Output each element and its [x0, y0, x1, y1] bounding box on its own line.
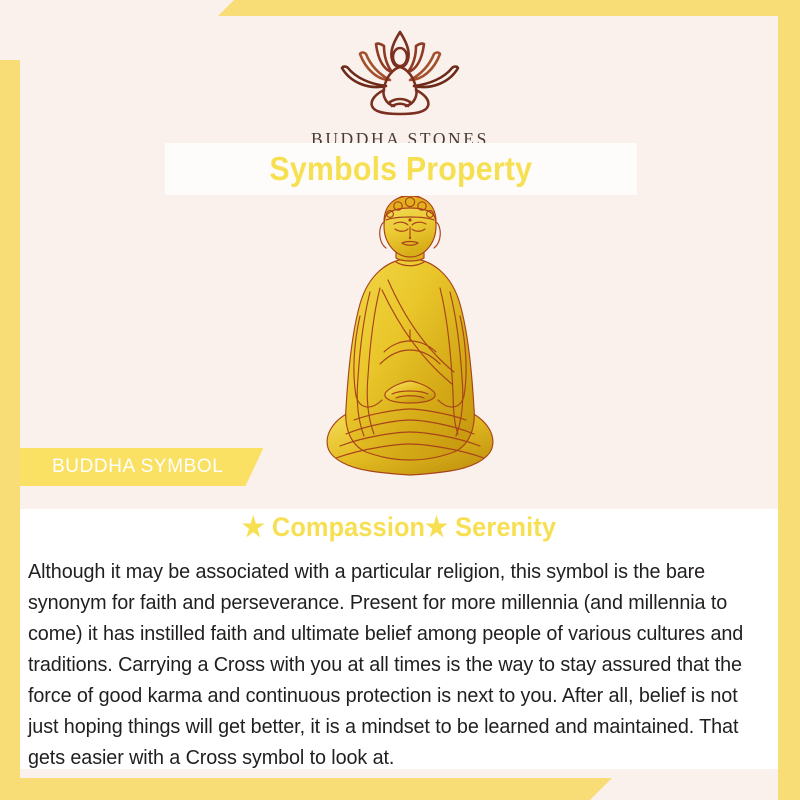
- section-subheading: ★ Compassion★ Serenity: [43, 512, 756, 543]
- decorative-left-strip: [0, 60, 20, 800]
- page-title: Symbols Property: [270, 150, 533, 188]
- decorative-top-band: [218, 0, 800, 16]
- decorative-bottom-band: [0, 778, 612, 800]
- lotus-meditation-figure-icon: [0, 24, 800, 125]
- ribbon-label: BUDDHA SYMBOL: [52, 456, 223, 478]
- seated-golden-buddha-illustration: [310, 196, 510, 488]
- brand-logo-block: BUDDHA STONES: [0, 24, 800, 150]
- page-title-bar: Symbols Property: [165, 143, 637, 195]
- buddha-symbol-ribbon: BUDDHA SYMBOL: [20, 448, 263, 486]
- section-body-text: Although it may be associated with a par…: [28, 557, 746, 774]
- infographic-page: BUDDHA STONES Symbols Property: [0, 0, 800, 800]
